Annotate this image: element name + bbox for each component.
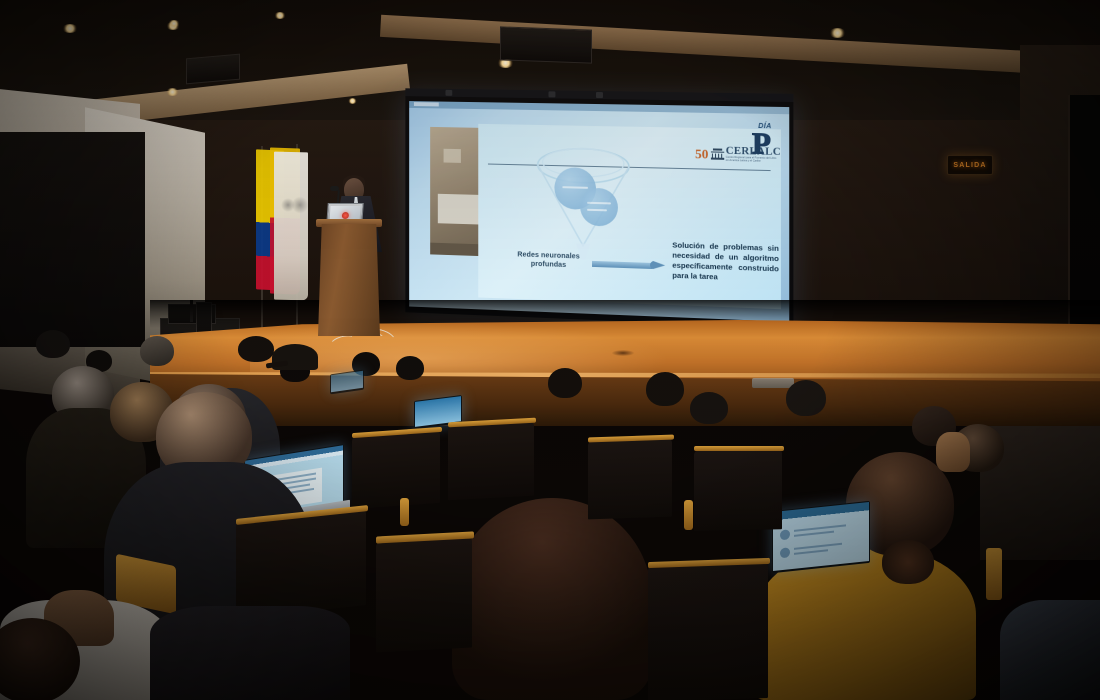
chair[interactable] <box>352 431 440 509</box>
slide-left-label-line2: profundas <box>502 258 596 270</box>
ceiling-spot-6 <box>274 12 286 19</box>
audience-head <box>36 330 70 358</box>
audience-body-right-foreground <box>1000 600 1100 700</box>
ceiling-spot-1 <box>62 24 78 33</box>
diagram-bubble-secondary <box>580 188 618 227</box>
camera-feed-object <box>444 149 461 163</box>
taskbar-button[interactable] <box>414 102 439 106</box>
audience-head <box>646 372 684 406</box>
temple-icon <box>710 148 723 159</box>
ceiling-speaker-2 <box>500 26 592 63</box>
podium <box>318 224 380 336</box>
ceiling-spot-8 <box>348 98 357 104</box>
audience-hand-right <box>936 432 970 472</box>
audience-head <box>140 336 174 366</box>
audience-head <box>786 380 826 416</box>
laptop-screen-feed[interactable] <box>772 501 870 573</box>
doorway-right <box>1068 95 1100 325</box>
chair[interactable] <box>588 439 672 520</box>
camera-feed-desk <box>438 194 482 225</box>
chair[interactable] <box>236 509 366 619</box>
acoustic-panel-left <box>0 132 145 347</box>
laptop-dim-view <box>331 371 363 392</box>
audience-head-long-hair <box>452 498 652 700</box>
dia-p-logo: DÍA P <box>746 125 796 173</box>
dia-p-letter: P <box>752 129 771 160</box>
chair-edge <box>694 446 784 451</box>
slide-logos: 50 CERLALC Centro Regional p <box>672 138 781 169</box>
screen-mount-bracket-2 <box>549 91 556 97</box>
projection-screen: Redes neuronales profundas Solución de p… <box>405 95 793 328</box>
right-arrow-icon <box>592 258 668 272</box>
desktop-taskbar <box>409 101 789 114</box>
flag-emblem-2 <box>292 196 308 214</box>
flag-institutional <box>274 152 308 301</box>
screen-mount-bracket-3 <box>596 92 603 98</box>
slide-content: Redes neuronales profundas Solución de p… <box>478 124 781 309</box>
ceiling-spot-3 <box>166 88 179 96</box>
audience-body-dark-foreground <box>150 606 350 700</box>
ceiling-spot-4 <box>168 20 180 27</box>
screen-surface: Redes neuronales profundas Solución de p… <box>409 101 789 322</box>
chair[interactable] <box>694 449 782 531</box>
chair[interactable] <box>376 537 472 652</box>
stage-floor-marker <box>612 350 634 356</box>
audience-head <box>690 392 728 424</box>
chair-edge <box>400 498 409 526</box>
slide-body-text: Solución de problemas sin necesidad de u… <box>672 240 779 284</box>
audience-head <box>548 368 582 398</box>
chair[interactable] <box>648 562 768 700</box>
auditorium-scene: SALIDA <box>0 0 1100 700</box>
microphone-icon <box>330 186 339 191</box>
chair-edge <box>986 548 1002 600</box>
ceiling-spot-7 <box>829 28 846 38</box>
exit-sign-label: SALIDA <box>953 162 986 169</box>
exit-sign: SALIDA <box>947 155 993 175</box>
screen-mount-bracket-1 <box>445 90 452 96</box>
ceiling-speaker-1 <box>186 54 240 85</box>
chair[interactable] <box>448 422 534 501</box>
anniversary-50-label: 50 <box>695 149 708 159</box>
audience-ponytail <box>882 540 934 584</box>
audience-head <box>238 336 274 362</box>
chair-edge <box>684 500 693 530</box>
slide-left-label: Redes neuronales profundas <box>502 249 596 270</box>
stage-floor-panel <box>752 378 794 388</box>
audience-head <box>396 356 424 380</box>
